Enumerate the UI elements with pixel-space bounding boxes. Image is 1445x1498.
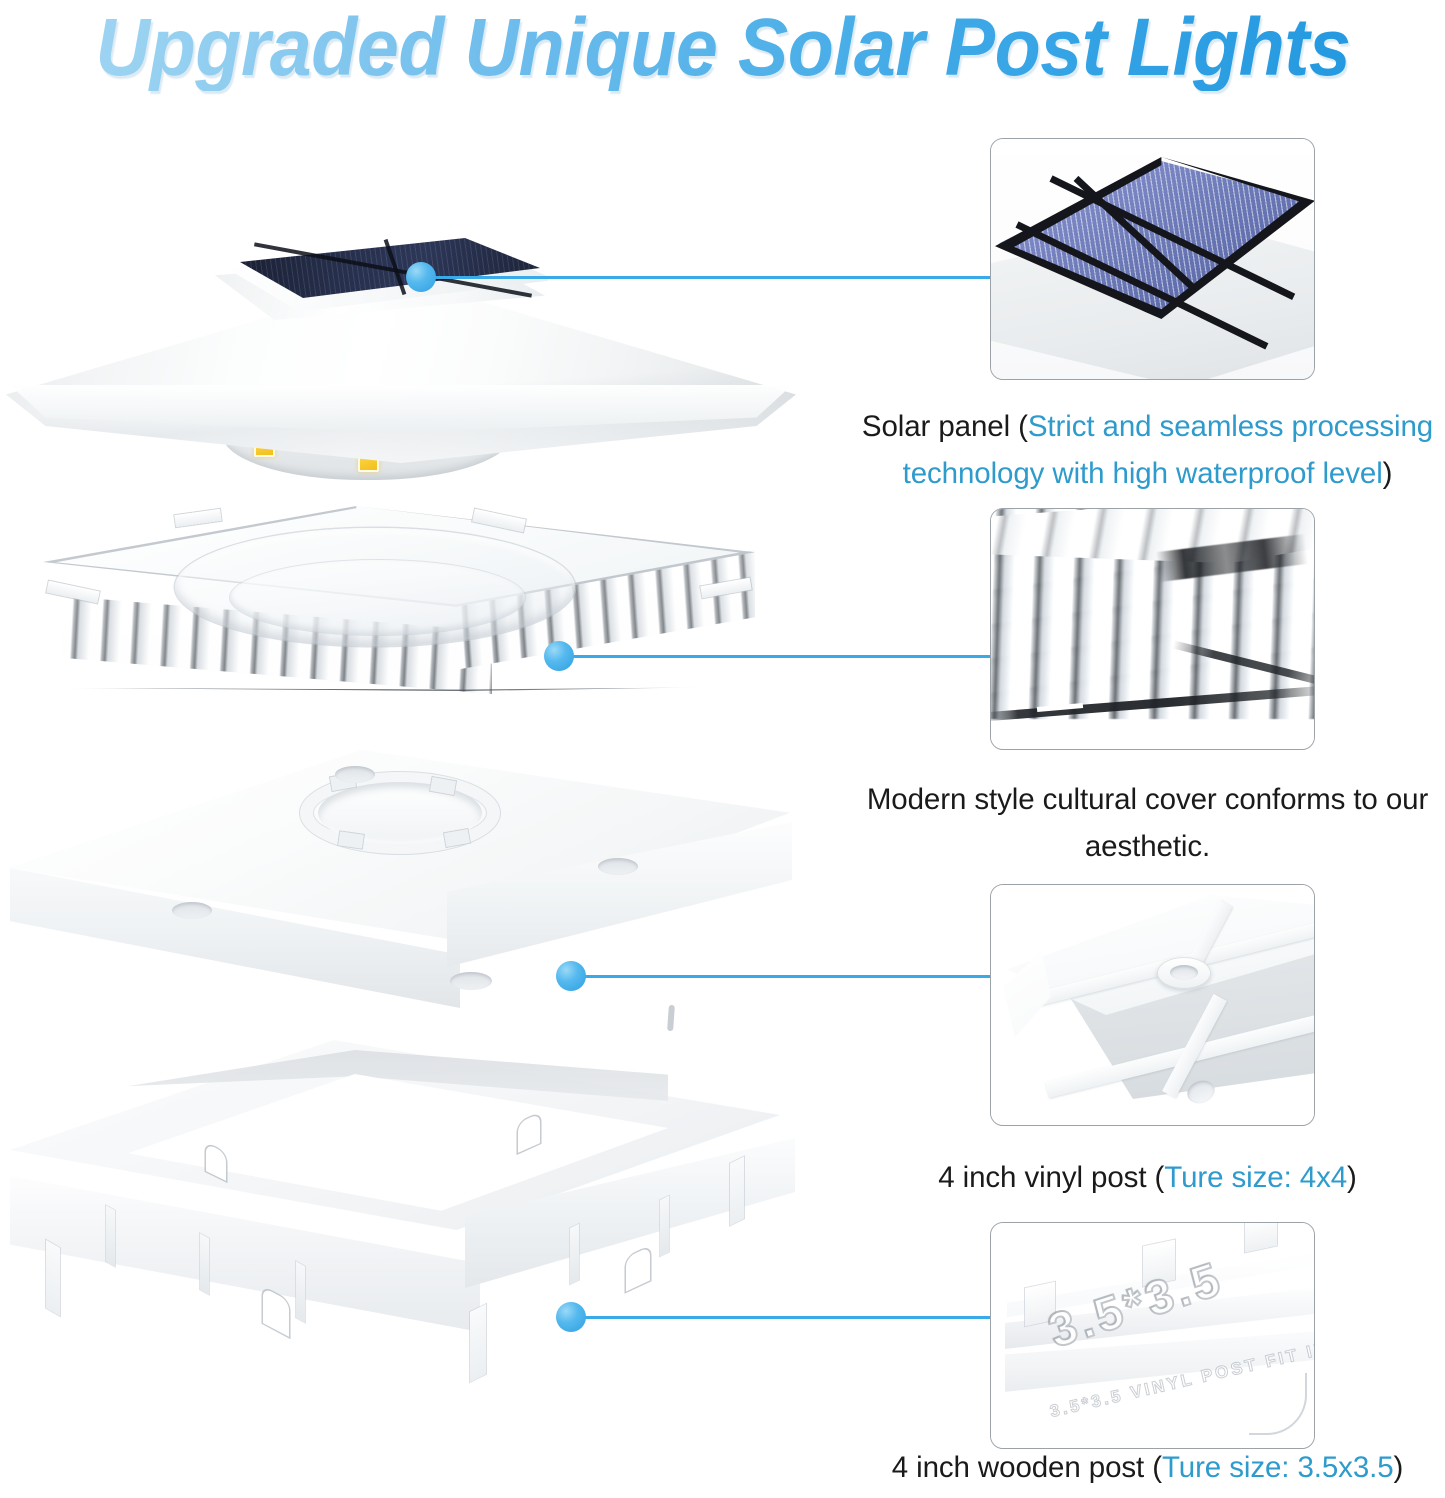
callout-dot [544, 641, 574, 671]
base-side-slot [667, 1005, 675, 1031]
glass-body [25, 500, 765, 710]
collar-notch [337, 830, 365, 849]
caption-prefix: 4 inch wooden post ( [892, 1451, 1162, 1484]
product-part-adapter-frame [10, 1040, 800, 1420]
glass-base-edge [65, 686, 705, 691]
base-screw-hole [172, 902, 212, 919]
base-screw-hole [335, 766, 375, 783]
detail-image-solar-panel [990, 138, 1315, 380]
frame-slot [626, 1246, 650, 1291]
base-screw-boss-hole [1170, 965, 1198, 980]
frame-rib [200, 1234, 209, 1295]
frame-rib [296, 1262, 305, 1323]
frame-rib [660, 1196, 669, 1256]
callout-dot [556, 961, 586, 991]
caption-cultural-cover: Modern style cultural cover conforms to … [850, 776, 1445, 870]
frame-rib [570, 1224, 579, 1284]
detail-image-wooden-post: 3.5*3.5 3.5*3.5 VINYL POST FIT IN [990, 1222, 1315, 1449]
caption-wooden-post: 4 inch wooden post (Ture size: 3.5x3.5) [850, 1444, 1445, 1491]
exploded-product-diagram [0, 110, 830, 1490]
feature-callout-column: Solar panel (Strict and seamless process… [850, 0, 1445, 1498]
base-screw-hole [598, 858, 638, 875]
caption-suffix: ) [1383, 457, 1393, 490]
caption-solar-panel: Solar panel (Strict and seamless process… [850, 403, 1445, 497]
glass-inner-lens [230, 560, 525, 635]
caption-suffix: ) [1394, 1451, 1404, 1484]
frame-corner-post [730, 1157, 744, 1226]
product-part-top-cap [0, 230, 800, 500]
caption-prefix: 4 inch vinyl post ( [938, 1161, 1164, 1194]
callout-dot [556, 1302, 586, 1332]
caption-prefix: Modern style cultural cover conforms to … [867, 783, 1428, 863]
glass-clip-tab [174, 509, 221, 527]
caption-suffix: ) [1347, 1161, 1357, 1194]
product-part-crystal-cover [25, 500, 765, 720]
callout-dot [406, 262, 436, 292]
frame-rib [106, 1206, 115, 1267]
caption-highlight: Ture size: 4x4 [1164, 1161, 1347, 1194]
product-part-base-plate [0, 750, 800, 1050]
detail-image-vinyl-post [990, 884, 1315, 1126]
caption-prefix: Solar panel ( [862, 410, 1028, 443]
caption-vinyl-post: 4 inch vinyl post (Ture size: 4x4) [850, 1154, 1445, 1201]
frame-corner-post [470, 1304, 486, 1382]
caption-highlight: Ture size: 3.5x3.5 [1162, 1451, 1394, 1484]
frame-corner-post [46, 1240, 60, 1316]
base-screw-hole [450, 972, 492, 990]
detail-image-crystal-cover [990, 508, 1315, 750]
